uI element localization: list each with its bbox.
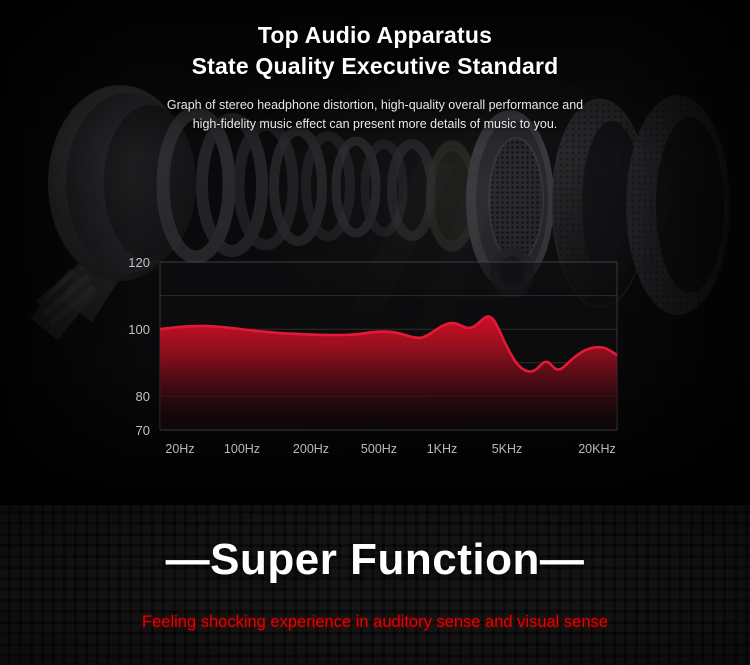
hero-subtitle: Graph of stereo headphone distortion, hi… [0, 96, 750, 134]
banner-tagline: Feeling shocking experience in auditory … [0, 611, 750, 633]
x-tick-1khz: 1KHz [427, 442, 458, 456]
page-title-line-2: State Quality Executive Standard [0, 51, 750, 82]
frequency-response-plot: 120 100 80 70 20Hz 100Hz 200Hz 500Hz 1KH… [0, 245, 750, 470]
super-function-banner: —Super Function— Feeling shocking experi… [0, 505, 750, 665]
hero-section: Top Audio Apparatus State Quality Execut… [0, 0, 750, 505]
hero-text-block: Top Audio Apparatus State Quality Execut… [0, 0, 750, 134]
x-tick-100hz: 100Hz [224, 442, 260, 456]
hero-subtitle-line-2: high-fidelity music effect can present m… [0, 115, 750, 134]
page-title-line-1: Top Audio Apparatus [0, 0, 750, 51]
chart-x-axis-labels: 20Hz 100Hz 200Hz 500Hz 1KHz 5KHz 20KHz [165, 442, 615, 456]
x-tick-200hz: 200Hz [293, 442, 329, 456]
x-tick-5khz: 5KHz [492, 442, 523, 456]
x-tick-500hz: 500Hz [361, 442, 397, 456]
y-tick-80: 80 [136, 389, 150, 404]
banner-heading: —Super Function— [0, 534, 750, 586]
chart-y-axis-labels: 120 100 80 70 [128, 255, 150, 438]
x-tick-20hz: 20Hz [165, 442, 194, 456]
hero-subtitle-line-1: Graph of stereo headphone distortion, hi… [0, 96, 750, 115]
y-tick-120: 120 [128, 255, 150, 270]
y-tick-100: 100 [128, 322, 150, 337]
frequency-response-chart: 120 100 80 70 20Hz 100Hz 200Hz 500Hz 1KH… [0, 245, 750, 470]
x-tick-20khz: 20KHz [578, 442, 616, 456]
y-tick-70: 70 [136, 423, 150, 438]
